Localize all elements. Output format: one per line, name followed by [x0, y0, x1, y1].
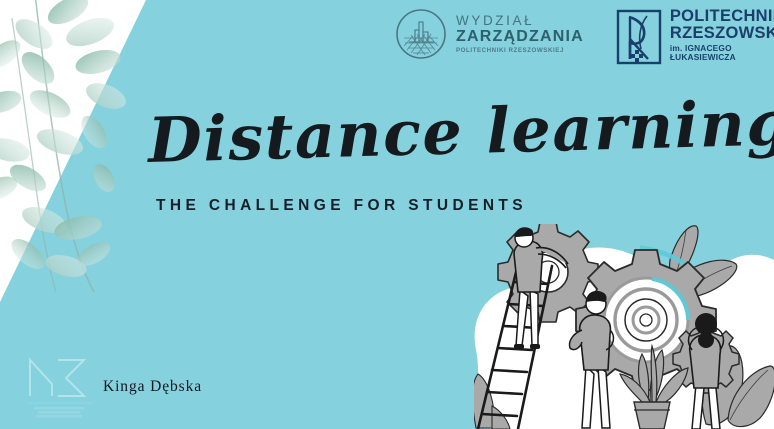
faculty-line-3: POLITECHNIKI RZESZOWSKIEJ — [456, 48, 584, 54]
faculty-line-2: ZARZĄDZANIA — [456, 29, 584, 45]
wydzial-zarzadzania-logo: WYDZIAŁ ZARZĄDZANIA POLITECHNIKI RZESZOW… — [395, 8, 584, 60]
university-line-2: RZESZOWSKA — [670, 25, 774, 42]
university-logo-text: POLITECHNIKA RZESZOWSKA im. IGNACEGO ŁUK… — [670, 8, 774, 61]
presentation-slide: WYDZIAŁ ZARZĄDZANIA POLITECHNIKI RZESZOW… — [0, 0, 774, 429]
faculty-logo-text: WYDZIAŁ ZARZĄDZANIA POLITECHNIKI RZESZOW… — [456, 14, 584, 55]
faculty-emblem-icon — [395, 8, 447, 60]
author-name: Kinga Dębska — [103, 378, 202, 396]
slide-title: Distance learning - — [147, 85, 774, 177]
university-line-3: im. IGNACEGO ŁUKASIEWICZA — [670, 44, 774, 61]
slide-subtitle: THE CHALLENGE FOR STUDENTS — [156, 197, 527, 215]
university-line-1: POLITECHNIKA — [670, 8, 774, 25]
logo-row: WYDZIAŁ ZARZĄDZANIA POLITECHNIKI RZESZOW… — [395, 8, 766, 74]
university-emblem-icon — [616, 9, 662, 65]
faculty-line-1: WYDZIAŁ — [456, 14, 584, 28]
teamwork-gears-illustration — [474, 224, 774, 429]
politechnika-rzeszowska-logo: POLITECHNIKA RZESZOWSKA im. IGNACEGO ŁUK… — [616, 8, 774, 65]
